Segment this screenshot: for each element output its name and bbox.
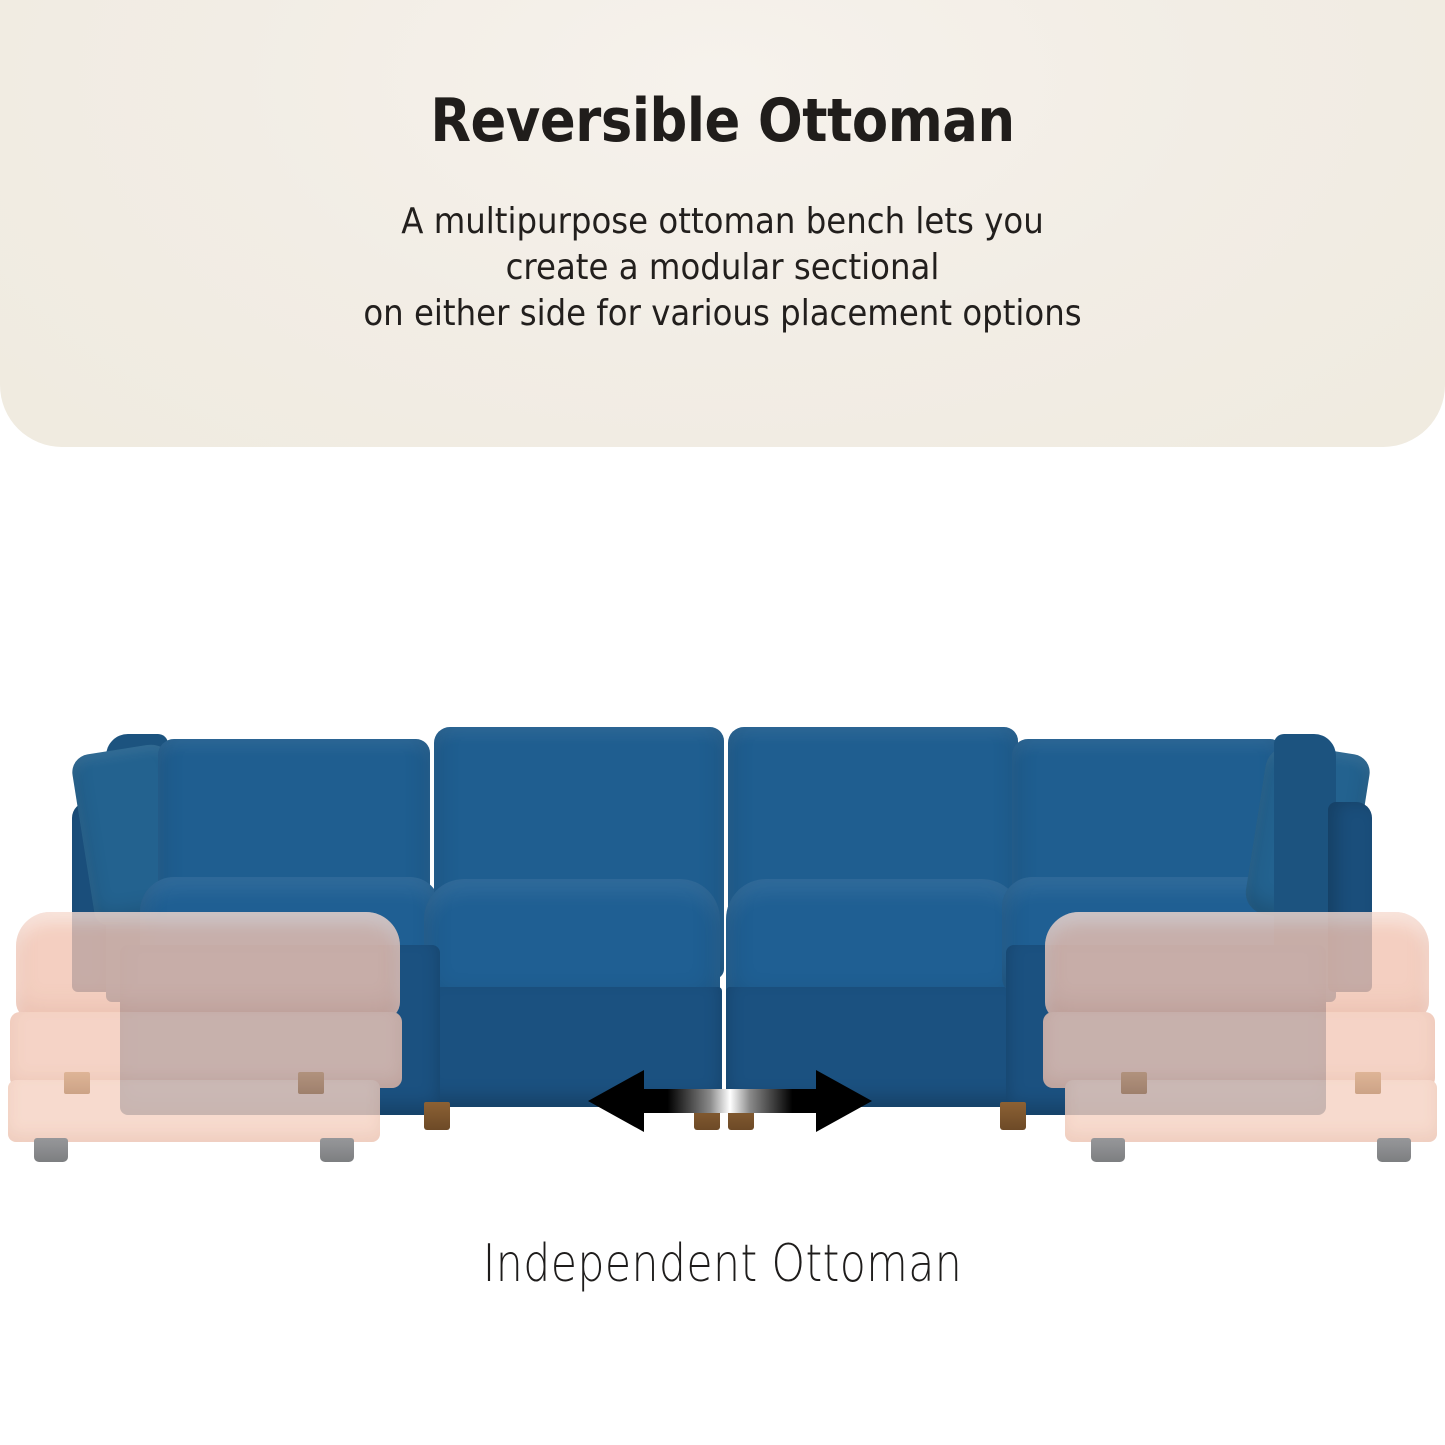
- ghost-ottoman-right-cushion: [1045, 912, 1429, 1020]
- ghost-ottoman-left[interactable]: [8, 912, 408, 1162]
- arrow-shape: [588, 1070, 872, 1132]
- ghost-ottoman-right[interactable]: [1037, 912, 1437, 1162]
- ghost-ottoman-right-foot-2: [1377, 1138, 1411, 1162]
- subtitle-block: A multipurpose ottoman bench lets you cr…: [72, 199, 1373, 337]
- ghost-ottoman-left-wood-leg: [64, 1072, 90, 1094]
- subtitle-line-3: on either side for various placement opt…: [72, 291, 1373, 337]
- subtitle-line-1: A multipurpose ottoman bench lets you: [72, 199, 1373, 245]
- ghost-ottoman-left-wood-leg-2: [298, 1072, 324, 1094]
- reversible-direction-arrow-icon: [586, 1062, 874, 1140]
- sofa-leg-left-inner: [424, 1102, 450, 1130]
- ghost-ottoman-left-foot: [34, 1138, 68, 1162]
- ghost-ottoman-right-wood-leg-2: [1355, 1072, 1381, 1094]
- ghost-ottoman-left-foot-2: [320, 1138, 354, 1162]
- page-title: Reversible Ottoman: [87, 86, 1359, 156]
- ghost-ottoman-right-wood-leg: [1121, 1072, 1147, 1094]
- sofa-leg-right-inner: [1000, 1102, 1026, 1130]
- bottom-caption: Independent Ottoman: [130, 1234, 1315, 1294]
- ghost-ottoman-left-cushion: [16, 912, 400, 1020]
- header-panel: Reversible Ottoman A multipurpose ottoma…: [0, 0, 1445, 447]
- subtitle-line-2: create a modular sectional: [72, 245, 1373, 291]
- ghost-ottoman-right-foot: [1091, 1138, 1125, 1162]
